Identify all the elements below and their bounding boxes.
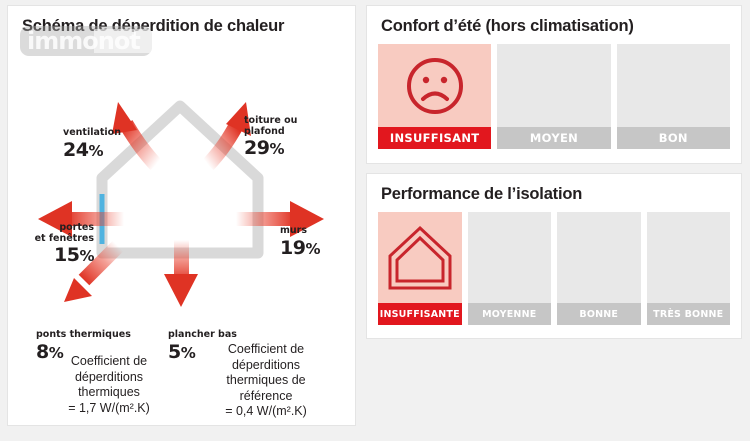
label-murs: murs 19% — [280, 226, 320, 259]
isolation-title: Performance de l’isolation — [381, 185, 582, 204]
coefficient-deperditions-thermiques: Coefficient de déperditions thermiques =… — [34, 354, 184, 416]
confort-rating-insuffisant-face — [378, 44, 491, 127]
confort-rating-insuffisant-label: INSUFFISANT — [378, 127, 491, 149]
label-toiture-value: 29% — [244, 137, 297, 159]
coef-2-line-4: référence — [186, 389, 346, 405]
label-portes-fenetres: portes et fenêtres 15% — [22, 223, 94, 266]
coef-1-value: = 1,7 W/(m².K) — [34, 401, 184, 417]
isolation-rating-scale: INSUFFISANTE MOYENNE BONNE TRÈS BONNE — [378, 212, 730, 325]
label-ventilation-caption: ventilation — [63, 128, 121, 139]
isolation-rating-moyenne-face — [468, 212, 552, 303]
confort-rating-bon[interactable]: BON — [617, 44, 730, 149]
isolation-rating-bonne[interactable]: BONNE — [557, 212, 641, 325]
label-ventilation: ventilation 24% — [63, 128, 121, 161]
coef-1-line-2: déperditions — [34, 370, 184, 386]
summer-comfort-panel: Confort d’été (hors climatisation) INSUF… — [367, 6, 741, 163]
label-portes-value: 15% — [22, 244, 94, 266]
label-murs-value: 19% — [280, 237, 320, 259]
isolation-rating-bonne-face — [557, 212, 641, 303]
confort-rating-scale: INSUFFISANT MOYEN BON — [378, 44, 730, 149]
isolation-rating-insuffisante[interactable]: INSUFFISANTE — [378, 212, 462, 325]
label-ventilation-value: 24% — [63, 139, 121, 161]
label-murs-caption: murs — [280, 226, 320, 237]
isolation-rating-bonne-label: BONNE — [557, 303, 641, 325]
page-title: Schéma de déperdition de chaleur — [22, 17, 284, 36]
coef-1-line-3: thermiques — [34, 385, 184, 401]
house-heat-loss-diagram: ventilation 24% toiture ou plafond 29% p… — [8, 54, 355, 309]
confort-rating-moyen-face — [497, 44, 610, 127]
label-toiture-caption-1: toiture ou — [244, 116, 297, 127]
coef-2-value: = 0,4 W/(m².K) — [186, 404, 346, 420]
coef-2-line-3: thermiques de — [186, 373, 346, 389]
label-toiture-plafond: toiture ou plafond 29% — [244, 116, 297, 159]
isolation-rating-insuffisante-face — [378, 212, 462, 303]
coefficient-deperditions-thermiques-reference: Coefficient de déperditions thermiques d… — [186, 342, 346, 420]
confort-rating-moyen[interactable]: MOYEN — [497, 44, 610, 149]
insulation-performance-panel: Performance de l’isolation INSUFFISANTE … — [367, 174, 741, 338]
isolation-rating-moyenne-label: MOYENNE — [468, 303, 552, 325]
label-portes-caption-1: portes — [22, 223, 94, 234]
coef-1-line-1: Coefficient de — [34, 354, 184, 370]
sad-face-icon — [404, 55, 466, 117]
isolation-rating-tres-bonne-label: TRÈS BONNE — [647, 303, 731, 325]
isolation-rating-insuffisante-label: INSUFFISANTE — [378, 303, 462, 325]
confort-rating-moyen-label: MOYEN — [497, 127, 610, 149]
label-plancher-caption: plancher bas — [168, 330, 237, 341]
label-toiture-caption-2: plafond — [244, 127, 297, 138]
isolation-rating-moyenne[interactable]: MOYENNE — [468, 212, 552, 325]
label-ponts-caption: ponts thermiques — [36, 330, 131, 341]
confort-title: Confort d’été (hors climatisation) — [381, 17, 634, 36]
label-portes-caption-2: et fenêtres — [22, 234, 94, 245]
isolation-rating-tres-bonne-face — [647, 212, 731, 303]
coef-2-line-2: déperditions — [186, 358, 346, 374]
confort-rating-insuffisant[interactable]: INSUFFISANT — [378, 44, 491, 149]
dpe-infographic: Schéma de déperdition de chaleur immonot — [0, 0, 750, 441]
heat-loss-diagram-panel: Schéma de déperdition de chaleur immonot — [8, 6, 355, 425]
coef-2-line-1: Coefficient de — [186, 342, 346, 358]
confort-rating-bon-label: BON — [617, 127, 730, 149]
isolation-rating-tres-bonne[interactable]: TRÈS BONNE — [647, 212, 731, 325]
confort-rating-bon-face — [617, 44, 730, 127]
house-outline-icon — [384, 222, 456, 294]
